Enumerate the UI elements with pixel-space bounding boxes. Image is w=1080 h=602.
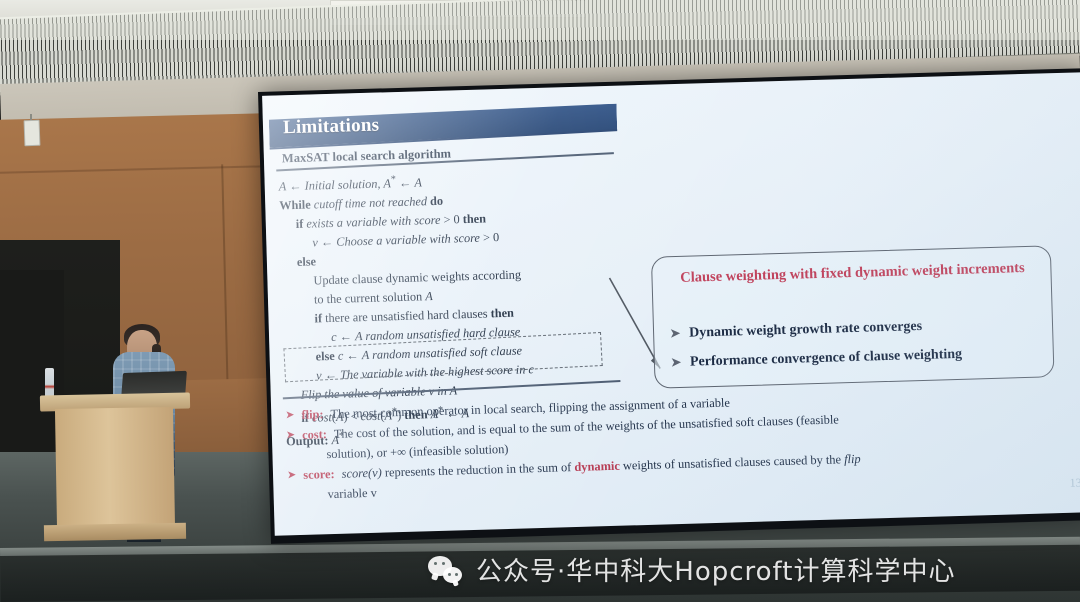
definition-term: flip:: [301, 404, 324, 425]
wall-sign: [24, 120, 41, 147]
podium: HUST: [55, 407, 175, 531]
water-bottle: [45, 368, 54, 398]
slide-page-number: 13: [1069, 475, 1080, 490]
bullet-arrow-icon: ➤: [287, 465, 297, 485]
bullet-arrow-icon: ➤: [671, 348, 682, 377]
definition-term: cost:: [302, 424, 327, 445]
bullet-arrow-icon: ➤: [670, 319, 681, 348]
slide-title: Limitations: [283, 115, 380, 140]
lecture-hall-photo: HUST HUST Limitations MaxSAT local searc…: [0, 0, 1080, 602]
bullet-arrow-icon: ➤: [285, 405, 295, 425]
callout-items: ➤Dynamic weight growth rate converges➤Pe…: [670, 309, 1044, 378]
projection-screen: HUST Limitations MaxSAT local search alg…: [258, 68, 1080, 544]
wechat-icon: [428, 556, 462, 583]
watermark-bar: 公众号·华中科大Hopcroft计算科学中心: [0, 536, 1080, 602]
callout-title: Clause weighting with fixed dynamic weig…: [670, 259, 1034, 288]
callout-box: Clause weighting with fixed dynamic weig…: [651, 245, 1055, 388]
watermark-text: 公众号·华中科大Hopcroft计算科学中心: [476, 551, 955, 588]
algorithm-header: MaxSAT local search algorithm: [282, 146, 451, 166]
definition-term: score:: [303, 464, 335, 485]
bullet-arrow-icon: ➤: [286, 425, 296, 445]
presentation-slide: HUST Limitations MaxSAT local search alg…: [262, 72, 1080, 535]
